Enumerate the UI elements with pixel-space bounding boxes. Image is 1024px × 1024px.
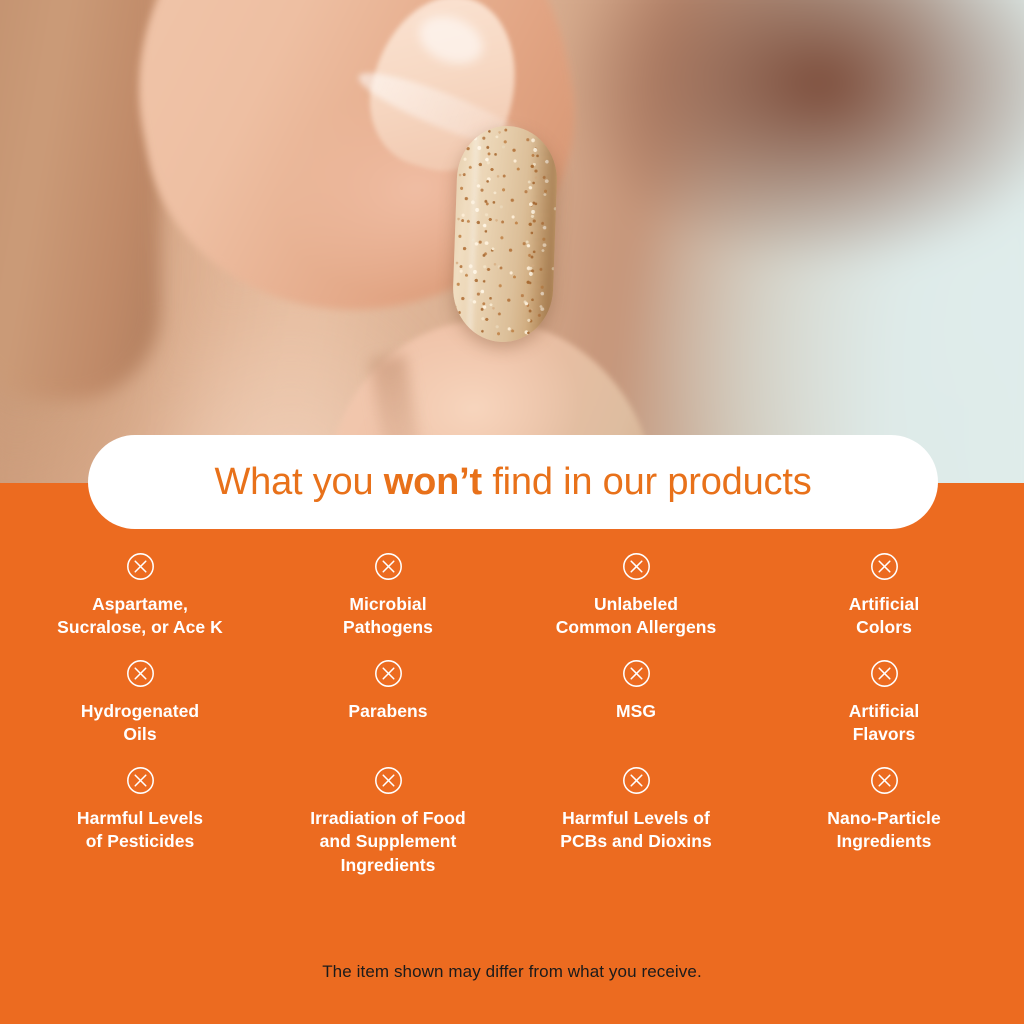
exclusion-item: Aspartame, Sucralose, or Ace K: [16, 552, 264, 640]
exclusion-item: Parabens: [264, 648, 512, 747]
exclusion-item: Irradiation of Food and Supplement Ingre…: [264, 754, 512, 877]
circle-x-icon: [126, 552, 155, 581]
title-part-after: find in our products: [482, 461, 812, 503]
circle-x-icon: [870, 552, 899, 581]
circle-x-icon: [622, 766, 651, 795]
circle-x-icon: [622, 659, 651, 688]
exclusion-item-label: Harmful Levels of PCBs and Dioxins: [560, 807, 712, 854]
exclusion-item-label: Nano-Particle Ingredients: [827, 807, 940, 854]
exclusion-item-label: Harmful Levels of Pesticides: [77, 807, 203, 854]
exclusion-grid: Aspartame, Sucralose, or Ace KMicrobial …: [0, 552, 1024, 877]
circle-x-icon: [870, 766, 899, 795]
exclusion-item-label: Irradiation of Food and Supplement Ingre…: [310, 807, 466, 877]
disclaimer-text: The item shown may differ from what you …: [0, 962, 1024, 982]
exclusion-item-label: Microbial Pathogens: [343, 593, 433, 640]
exclusion-item-label: Hydrogenated Oils: [81, 700, 199, 747]
exclusion-item: Harmful Levels of Pesticides: [16, 754, 264, 877]
title-part-before: What you: [214, 461, 383, 503]
exclusion-item: Unlabeled Common Allergens: [512, 552, 760, 640]
circle-x-icon: [870, 659, 899, 688]
background-finger: [0, 0, 160, 400]
circle-x-icon: [622, 552, 651, 581]
exclusion-item-label: Artificial Flavors: [849, 700, 920, 747]
exclusion-item: Nano-Particle Ingredients: [760, 754, 1008, 877]
product-photo: [0, 0, 1024, 484]
circle-x-icon: [126, 766, 155, 795]
exclusion-item-label: Parabens: [348, 700, 427, 723]
circle-x-icon: [374, 659, 403, 688]
title-emphasis: won’t: [384, 461, 482, 503]
exclusion-item: Harmful Levels of PCBs and Dioxins: [512, 754, 760, 877]
exclusion-item-label: MSG: [616, 700, 656, 723]
circle-x-icon: [374, 766, 403, 795]
exclusion-item: Artificial Flavors: [760, 648, 1008, 747]
exclusion-item-label: Aspartame, Sucralose, or Ace K: [57, 593, 223, 640]
product-infographic: What you won’t find in our products Aspa…: [0, 0, 1024, 1024]
exclusion-item-label: Artificial Colors: [849, 593, 920, 640]
page-title: What you won’t find in our products: [214, 463, 811, 501]
supplement-tablet: [451, 124, 558, 343]
exclusion-item: Microbial Pathogens: [264, 552, 512, 640]
circle-x-icon: [126, 659, 155, 688]
title-pill: What you won’t find in our products: [88, 435, 938, 529]
exclusion-item: Artificial Colors: [760, 552, 1008, 640]
exclusion-item: MSG: [512, 648, 760, 747]
circle-x-icon: [374, 552, 403, 581]
exclusion-item: Hydrogenated Oils: [16, 648, 264, 747]
exclusion-item-label: Unlabeled Common Allergens: [556, 593, 717, 640]
